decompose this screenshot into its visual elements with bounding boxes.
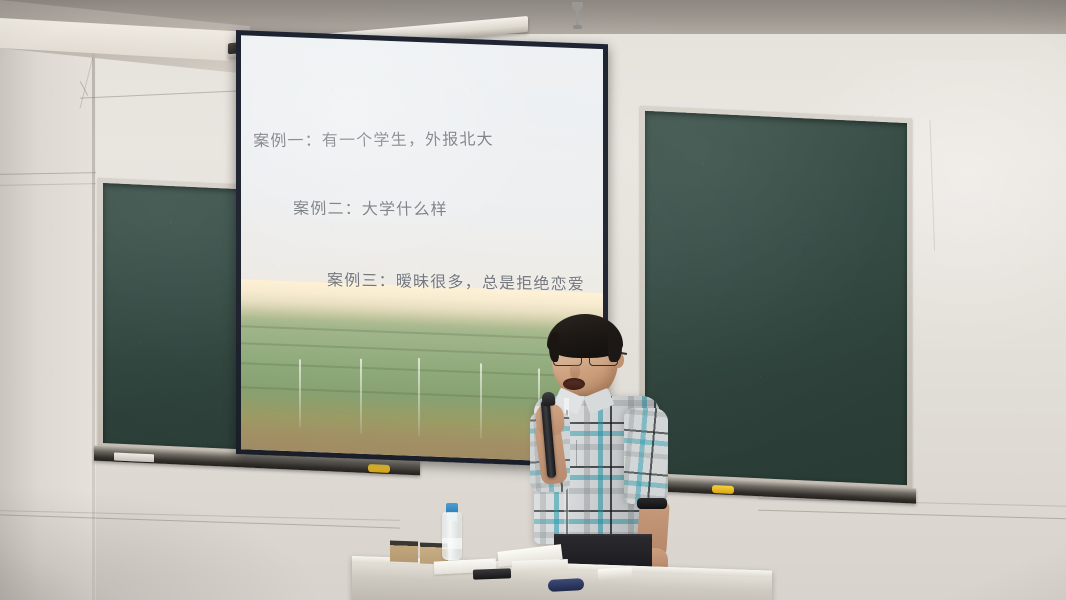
papers <box>512 559 568 572</box>
yellow-chalk-holder <box>368 464 390 473</box>
nose <box>570 364 580 378</box>
microphone-head <box>541 391 555 406</box>
ceiling-projector-mount-icon <box>572 0 583 34</box>
bottle-neck <box>447 512 457 521</box>
bottle-label <box>442 538 462 549</box>
mount-base <box>573 25 582 29</box>
black-device <box>473 568 511 579</box>
hair-side <box>608 330 622 362</box>
mount-bowl <box>572 2 583 11</box>
mouth <box>563 378 585 390</box>
wristwatch-icon <box>637 498 667 509</box>
slide-text-line-1: 案例一：有一个学生，外报北大 <box>253 125 495 151</box>
water-bottle <box>442 512 462 560</box>
right-sleeve <box>624 408 668 504</box>
classroom-photo: 案例一：有一个学生，外报北大 案例二：大学什么样 案例三：暧昧很多，总是拒绝恋爱 <box>0 0 1066 600</box>
cardboard-box <box>390 541 418 563</box>
white-object <box>598 567 633 580</box>
blue-pouch <box>548 578 585 592</box>
slide-text-line-3: 案例三：暧昧很多，总是拒绝恋爱 <box>327 266 585 295</box>
mount-stem <box>576 11 579 25</box>
shirt-pocket <box>576 440 605 467</box>
yellow-chalk-holder <box>712 485 734 494</box>
plaid-pattern <box>624 408 668 504</box>
chalkboard-slate <box>645 111 907 485</box>
slide-text-line-2: 案例二：大学什么样 <box>293 195 448 220</box>
